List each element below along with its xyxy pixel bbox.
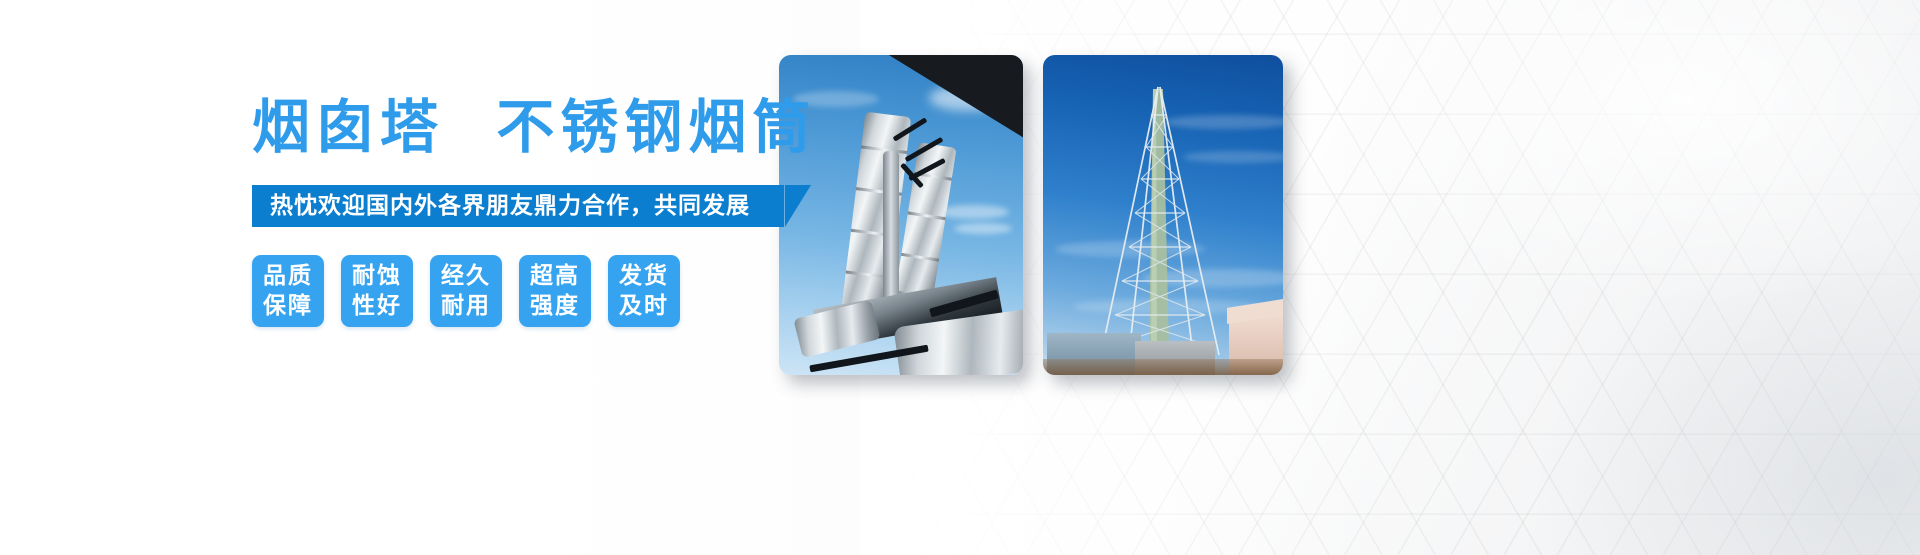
badge-line-2: 强度 [530, 291, 580, 321]
feature-badge-list: 品质 保障 耐蚀 性好 经久 耐用 超高 强度 发货 及时 [252, 255, 680, 327]
slogan-ribbon: 热忱欢迎国内外各界朋友鼎力合作，共同发展 [252, 185, 784, 227]
badge-line-2: 保障 [263, 291, 313, 321]
cloud-wisp-shape [939, 205, 1009, 219]
badge-line-2: 性好 [352, 291, 402, 321]
promo-banner: 烟囱塔 不锈钢烟筒 热忱欢迎国内外各界朋友鼎力合作，共同发展 品质 保障 耐蚀 … [0, 0, 1920, 555]
badge-line-1: 发货 [619, 261, 669, 291]
badge-line-1: 耐蚀 [352, 261, 402, 291]
feature-badge-durability[interactable]: 经久 耐用 [430, 255, 502, 327]
slogan-text: 热忱欢迎国内外各界朋友鼎力合作，共同发展 [270, 185, 750, 227]
feature-badge-high-strength[interactable]: 超高 强度 [519, 255, 591, 327]
cloud-wisp-shape [954, 223, 1012, 234]
page-title: 烟囱塔 不锈钢烟筒 [252, 92, 816, 162]
badge-line-1: 超高 [530, 261, 580, 291]
badge-line-2: 及时 [619, 291, 669, 321]
feature-badge-quality[interactable]: 品质 保障 [252, 255, 324, 327]
badge-line-1: 经久 [441, 261, 491, 291]
feature-badge-fast-delivery[interactable]: 发货 及时 [608, 255, 680, 327]
lattice-chimney-tower-photo [1043, 55, 1283, 375]
text-content-column: 烟囱塔 不锈钢烟筒 热忱欢迎国内外各界朋友鼎力合作，共同发展 品质 保障 耐蚀 … [0, 0, 820, 555]
ground-strip [1043, 359, 1283, 375]
slogan-ribbon-body: 热忱欢迎国内外各界朋友鼎力合作，共同发展 [252, 185, 784, 227]
badge-line-2: 耐用 [441, 291, 491, 321]
badge-line-1: 品质 [263, 261, 313, 291]
feature-badge-corrosion-resistance[interactable]: 耐蚀 性好 [341, 255, 413, 327]
